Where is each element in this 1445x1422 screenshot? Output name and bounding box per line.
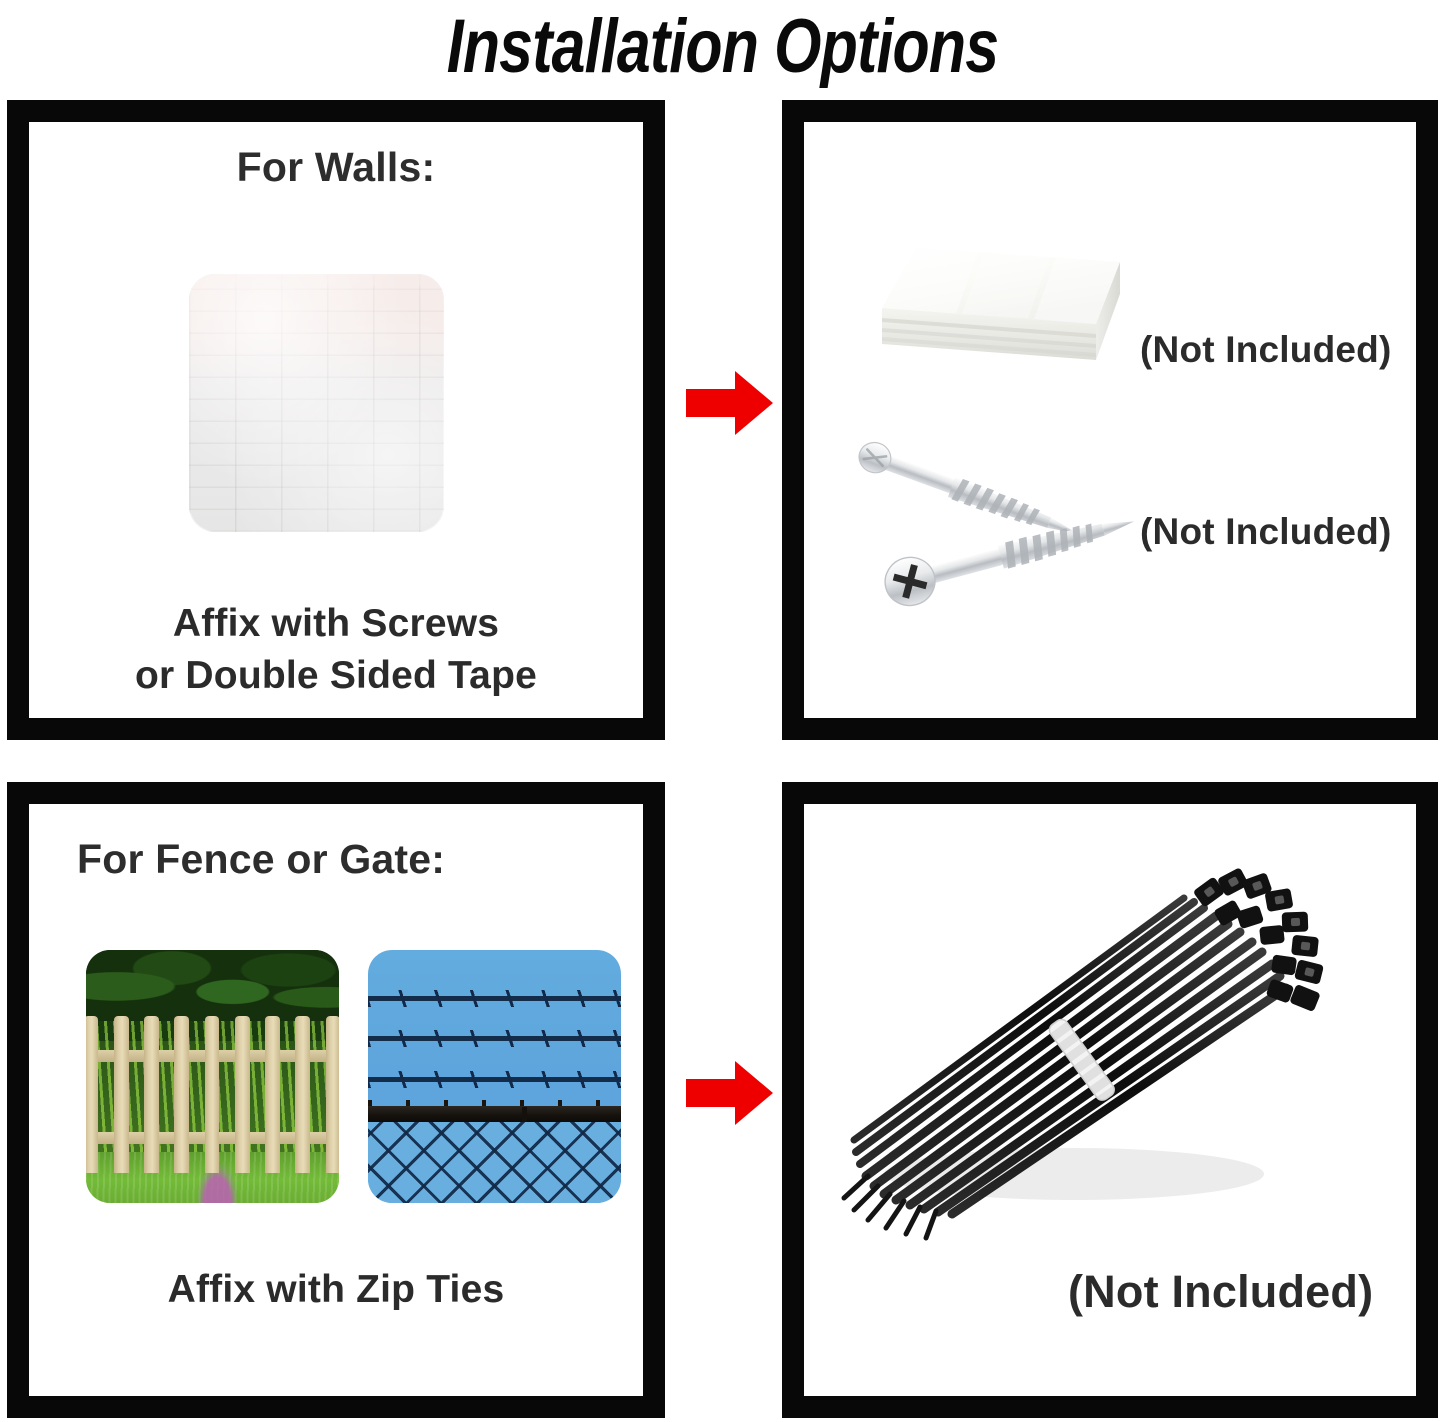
panel-fence-hardware: (Not Included) bbox=[782, 782, 1438, 1418]
wood-screws-image bbox=[824, 432, 1184, 632]
tape-not-included-label: (Not Included) bbox=[1140, 329, 1391, 371]
panel-wall-hardware: (Not Included) bbox=[782, 100, 1438, 740]
page-title: Installation Options bbox=[145, 0, 1301, 92]
screw-upper bbox=[855, 438, 1083, 546]
double-sided-tape-stack-image bbox=[864, 232, 1144, 412]
panel-walls-caption-line2: or Double Sided Tape bbox=[29, 650, 643, 702]
red-arrow-right-icon-2 bbox=[686, 1060, 774, 1131]
panel-fence-caption: Affix with Zip Ties bbox=[29, 1264, 643, 1316]
brick-whitewash-overlay bbox=[189, 274, 444, 532]
screws-not-included-label: (Not Included) bbox=[1140, 511, 1391, 553]
wooden-picket-fence-photo bbox=[86, 950, 339, 1203]
red-arrow-right-icon bbox=[686, 370, 774, 441]
black-zip-ties-bundle-image bbox=[824, 824, 1384, 1244]
ziptie-not-included-label: (Not Included) bbox=[1068, 1266, 1373, 1318]
white-brick-wall-image bbox=[189, 274, 444, 532]
panel-walls-heading: For Walls: bbox=[29, 144, 643, 191]
panel-fence-heading: For Fence or Gate: bbox=[77, 836, 445, 883]
chain-link-barbed-wire-fence-photo bbox=[368, 950, 621, 1203]
panel-walls-caption-line1: Affix with Screws bbox=[29, 598, 643, 650]
panel-for-fence-or-gate: For Fence or Gate: bbox=[7, 782, 665, 1418]
panel-for-walls: For Walls: Affix with Screws or Double S… bbox=[7, 100, 665, 740]
